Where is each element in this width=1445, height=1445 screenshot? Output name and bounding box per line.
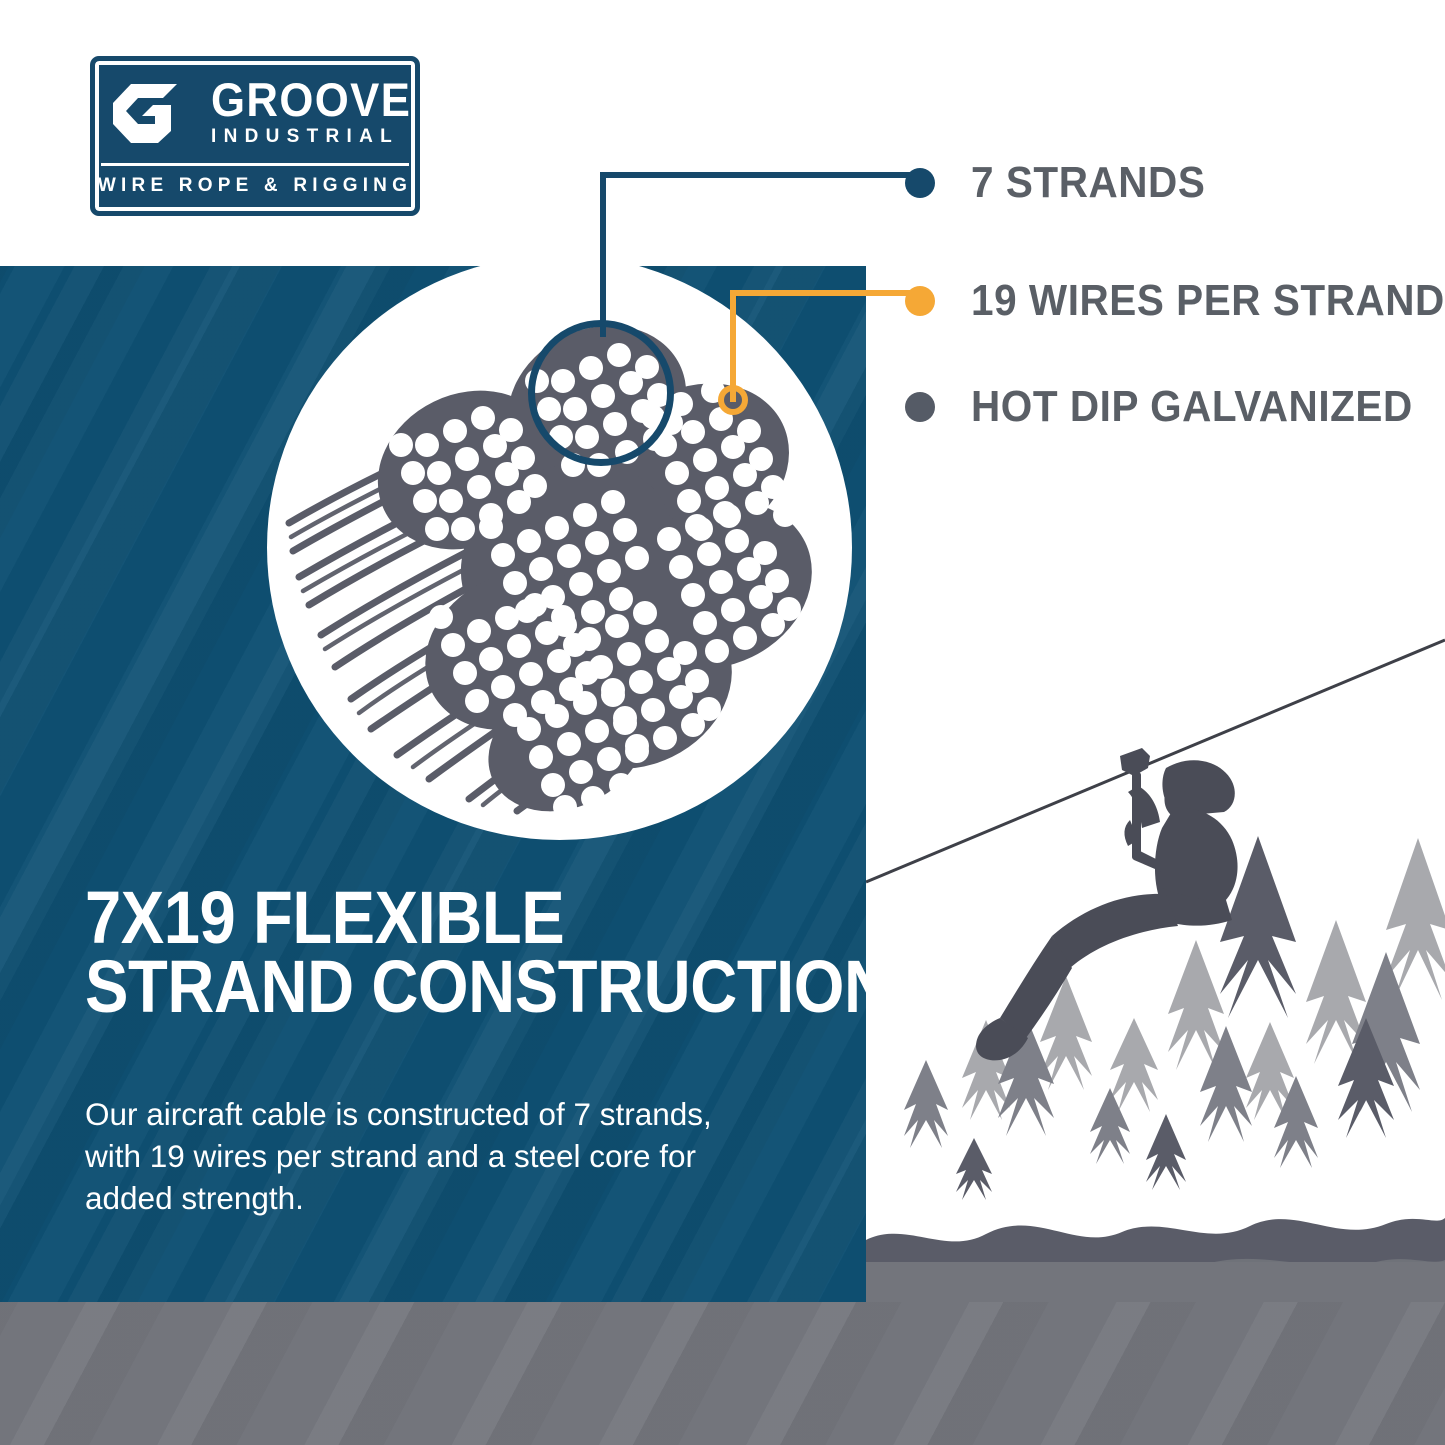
leader-line-strands-horizontal <box>600 172 912 178</box>
logo-brand-name: GROOVE <box>211 78 411 122</box>
brand-logo: GROOVE INDUSTRIAL WIRE ROPE & RIGGING <box>90 56 420 216</box>
logo-brand-subtitle: INDUSTRIAL <box>211 126 426 148</box>
strand-highlight-circle-icon <box>528 320 674 466</box>
logo-horizontal-rule <box>101 163 409 166</box>
description-text: Our aircraft cable is constructed of 7 s… <box>85 1094 745 1220</box>
zipline-rider-forest-photo <box>866 620 1445 1302</box>
callout-label: 7 STRANDS <box>971 158 1205 208</box>
leader-line-wires-horizontal <box>730 290 912 296</box>
logo-upper-row: GROOVE INDUSTRIAL <box>101 67 409 159</box>
callout-hot-dip-galvanized: HOT DIP GALVANIZED <box>905 382 1445 432</box>
infographic-canvas: GROOVE INDUSTRIAL WIRE ROPE & RIGGING <box>0 0 1445 1445</box>
callout-label: 19 WIRES PER STRAND <box>971 276 1445 326</box>
footer-bar <box>0 1302 1445 1445</box>
callout-dot-icon <box>905 392 935 422</box>
callout-strands: 7 STRANDS <box>905 158 1226 208</box>
page-title: 7X19 FLEXIBLE STRAND CONSTRUCTION <box>85 884 754 1022</box>
callout-dot-icon <box>905 168 935 198</box>
callout-label: HOT DIP GALVANIZED <box>971 382 1413 432</box>
callout-wires-per-strand: 19 WIRES PER STRAND <box>905 276 1445 326</box>
headline-line-2: STRAND CONSTRUCTION <box>85 953 754 1022</box>
footer-texture-stripes <box>0 1302 1445 1445</box>
logo-lower-row: WIRE ROPE & RIGGING <box>101 170 409 201</box>
headline-line-1: 7X19 FLEXIBLE <box>85 884 754 953</box>
logo-wordmark: GROOVE INDUSTRIAL <box>211 67 426 159</box>
leader-line-wires-vertical <box>730 290 736 402</box>
callout-dot-icon <box>905 286 935 316</box>
photo-bottom-gray-extension <box>866 1262 1445 1302</box>
logo-tagline: WIRE ROPE & RIGGING <box>98 175 412 197</box>
leader-line-strands-vertical <box>600 172 606 337</box>
groove-g-mark-icon <box>101 67 193 159</box>
